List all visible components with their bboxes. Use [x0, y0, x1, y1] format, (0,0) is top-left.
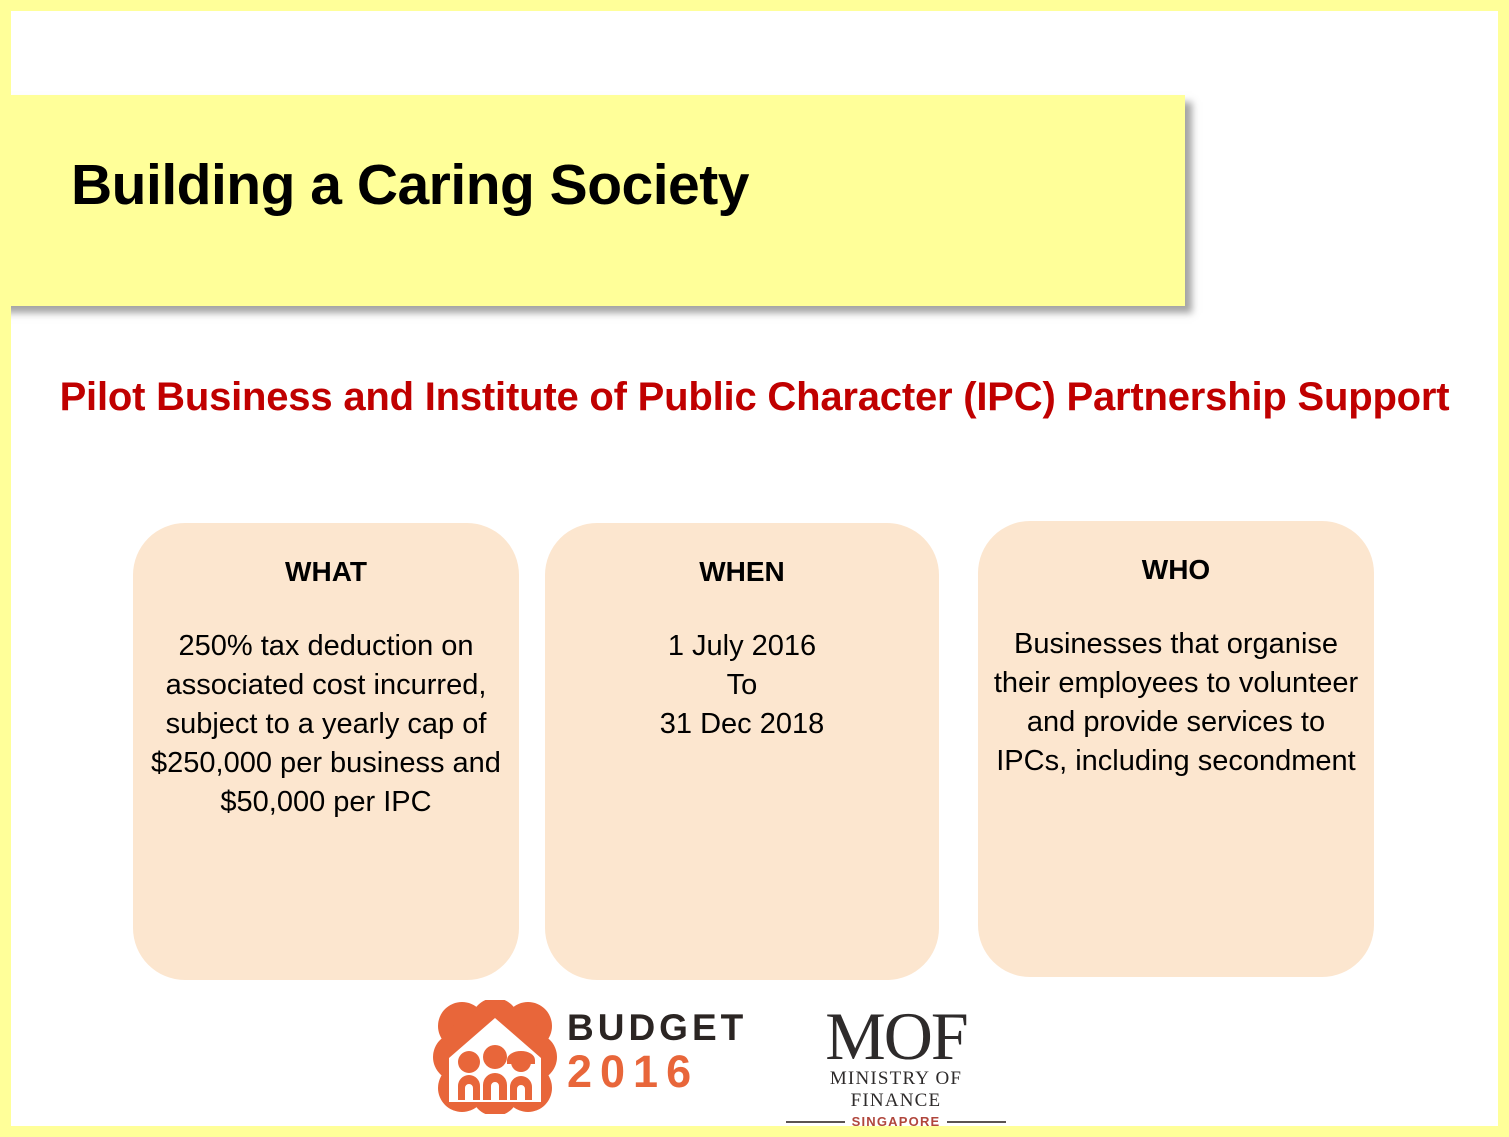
card-body-what: 250% tax deduction on associated cost in… — [147, 627, 505, 822]
info-card-who: WHO Businesses that organise their emplo… — [978, 521, 1374, 977]
info-card-what: WHAT 250% tax deduction on associated co… — [133, 523, 519, 980]
mof-country-label: SINGAPORE — [852, 1114, 941, 1126]
mof-monogram: MOF — [786, 1004, 1006, 1068]
logo-strip: BUDGET 2016 MOF MINISTRY OF FINANCE SING… — [11, 996, 1498, 1121]
budget-word-year: 2016 — [567, 1048, 747, 1096]
card-body-when: 1 July 2016 To 31 Dec 2018 — [559, 627, 925, 744]
card-title-when: WHEN — [559, 555, 925, 589]
mof-rule-right — [947, 1121, 1006, 1123]
budget-2016-logo: BUDGET 2016 — [431, 996, 751, 1114]
slide-frame: Building a Caring Society Pilot Business… — [0, 0, 1509, 1137]
budget-flower-house-family-icon — [431, 1000, 559, 1114]
budget-wordmark: BUDGET 2016 — [567, 1008, 747, 1096]
slide-canvas: Building a Caring Society Pilot Business… — [11, 11, 1498, 1126]
mof-rule-left — [786, 1121, 845, 1123]
mof-full-name: MINISTRY OF FINANCE — [786, 1068, 1006, 1112]
budget-word-budget: BUDGET — [567, 1008, 747, 1048]
mof-logo: MOF MINISTRY OF FINANCE SINGAPORE — [786, 1004, 1006, 1109]
info-card-when: WHEN 1 July 2016 To 31 Dec 2018 — [545, 523, 939, 980]
card-title-who: WHO — [992, 553, 1360, 587]
page-title: Building a Caring Society — [71, 152, 749, 218]
mof-country-row: SINGAPORE — [786, 1114, 1006, 1126]
card-title-what: WHAT — [147, 555, 505, 589]
slide-subtitle: Pilot Business and Institute of Public C… — [11, 369, 1498, 426]
title-banner: Building a Caring Society — [11, 95, 1185, 306]
card-body-who: Businesses that organise their employees… — [992, 625, 1360, 781]
